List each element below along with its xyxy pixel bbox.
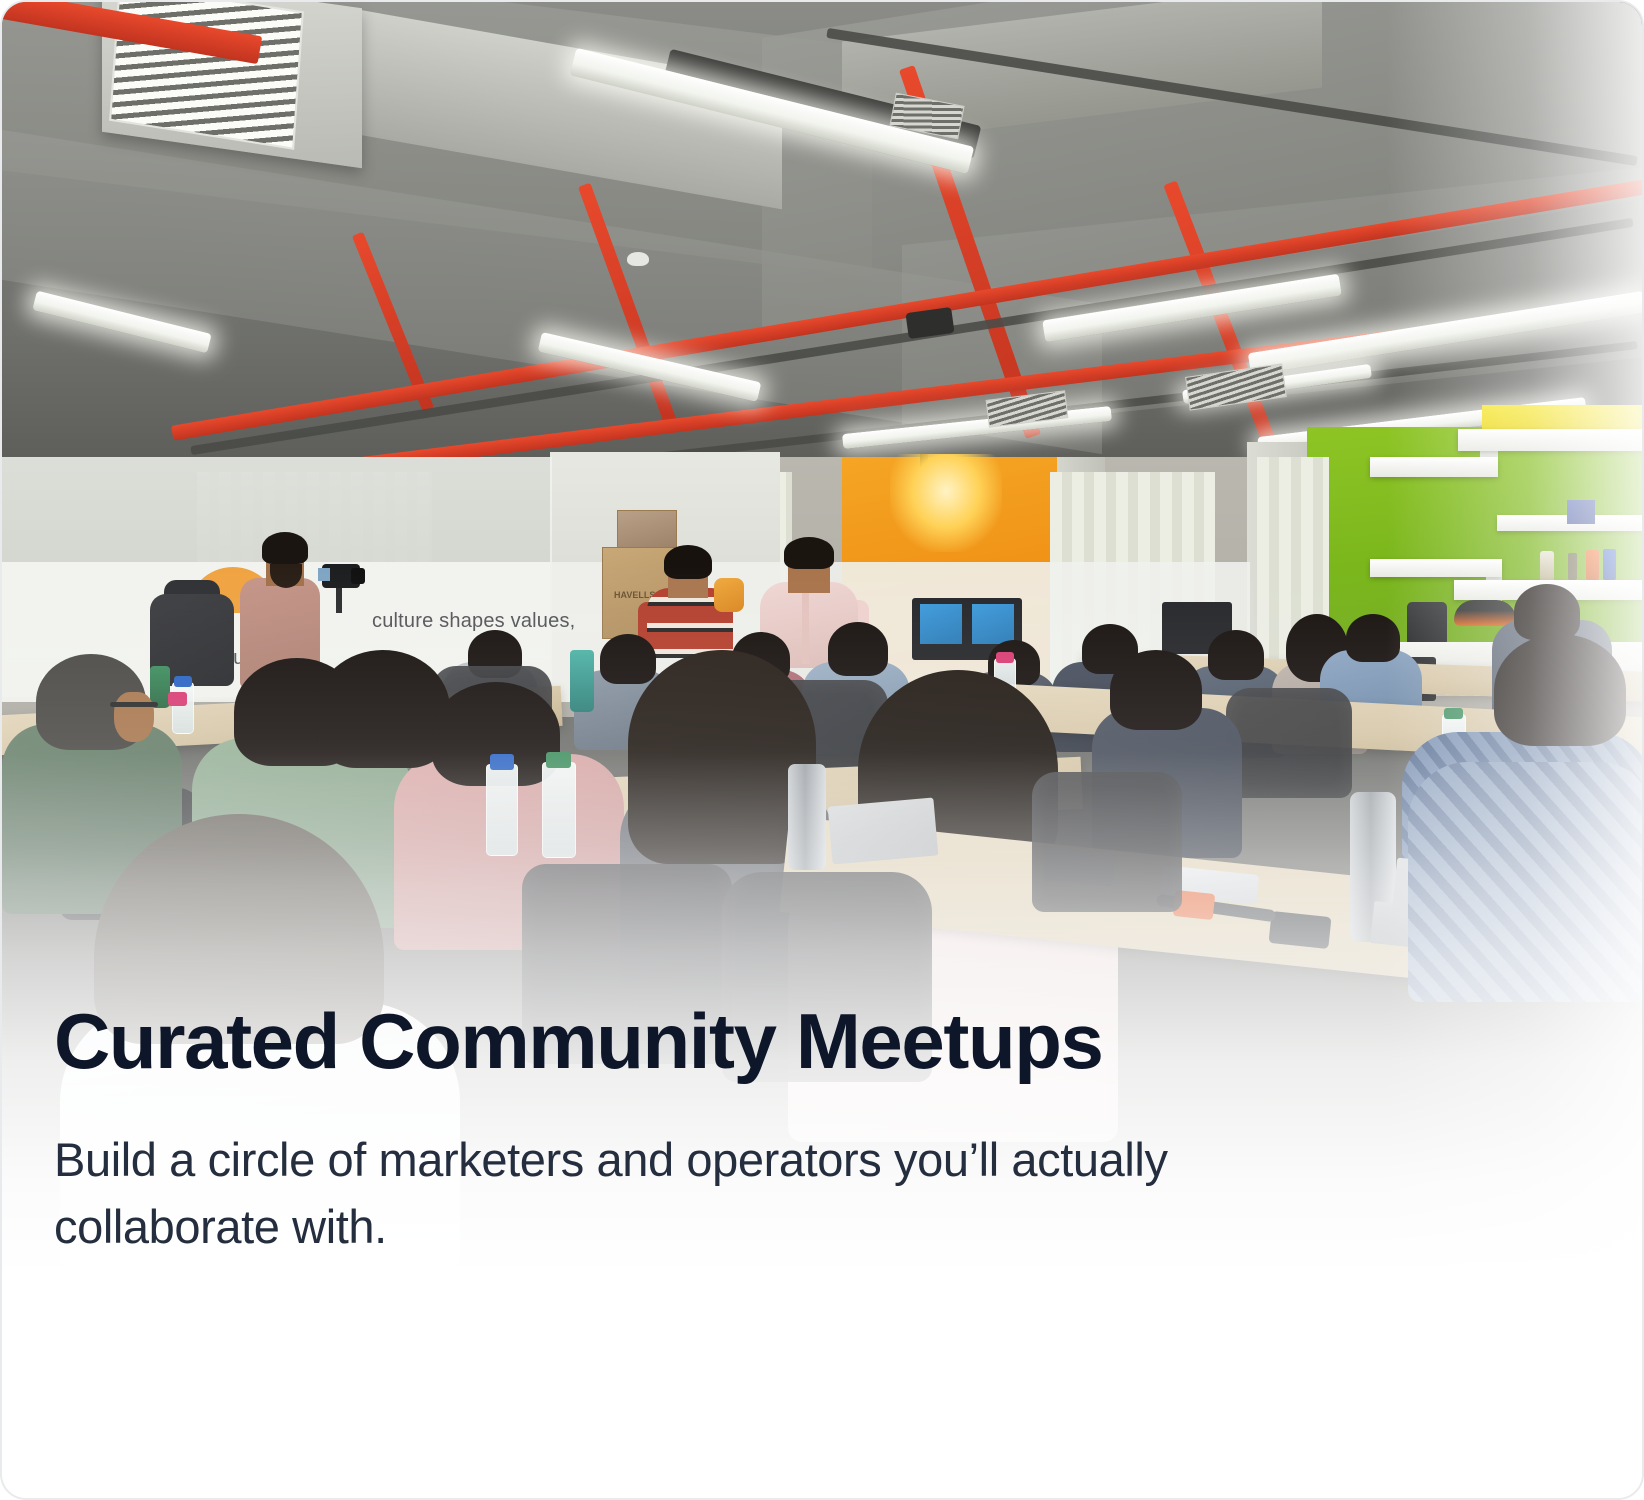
bottle-cap [174,676,192,687]
audience-member-hair [600,634,656,684]
office-chair [1226,688,1352,798]
photo-scene: culture shapes values, values HAVELLS [2,2,1644,1342]
audience-member-hair [316,650,450,768]
water-bottle [172,682,194,734]
laptop [828,797,939,864]
wall-shelf [1370,457,1498,477]
office-chair [522,864,732,1064]
pendant-lamp-glow [890,454,1002,552]
speaker-b-hair [784,537,834,569]
bottle-cap [490,754,514,770]
framed-poster [1567,500,1595,524]
audience-member-body [1408,762,1644,1002]
insulated-bottle [570,650,594,712]
water-bottle [486,764,518,856]
monitor-screen [972,604,1014,644]
glass-wall-text-line-1: culture shapes values, [372,610,575,633]
camera-lens-icon [351,568,365,584]
meetup-photo: culture shapes values, values HAVELLS [2,2,1644,1342]
bottle-cap [1444,708,1463,719]
camera-screen [318,568,330,581]
trophy-ornament [1540,551,1554,581]
audience-member-hair [1208,630,1264,680]
audience-member-hair [828,622,888,676]
wall-shelf [1458,429,1644,451]
camera-tripod [336,587,342,613]
feature-card[interactable]: culture shapes values, values HAVELLS [0,0,1644,1500]
audience-member-hair [1514,584,1580,640]
insulated-bottle [788,764,826,870]
camera-device [1268,911,1331,949]
audience-member-hair [1346,614,1400,662]
speaker-b-shirt-placket [802,584,809,664]
office-chair [722,872,932,1082]
wall-shelf [1370,559,1502,577]
trophy-ornament [1568,553,1577,580]
eyeglasses-icon [110,702,158,707]
smoke-detector-icon [627,252,649,266]
bottle-cap [546,752,571,768]
shelf-container [1586,550,1599,580]
audience-member-hair [1110,650,1202,730]
backpack [1407,602,1447,646]
speaker-a-hair [664,545,712,579]
bottle-cap [168,692,187,706]
handheld-prop [714,578,744,612]
shelf-container [1603,549,1616,580]
standing-presenter-hair [262,532,308,564]
bottle-cap [996,652,1014,663]
audience-member-hair [1494,634,1626,746]
bike-helmet [1454,600,1516,626]
audience-member-face [114,692,154,742]
monitor-screen [920,604,962,644]
office-chair [1032,772,1182,912]
cardboard-box [617,510,677,550]
water-bottle [542,762,576,858]
